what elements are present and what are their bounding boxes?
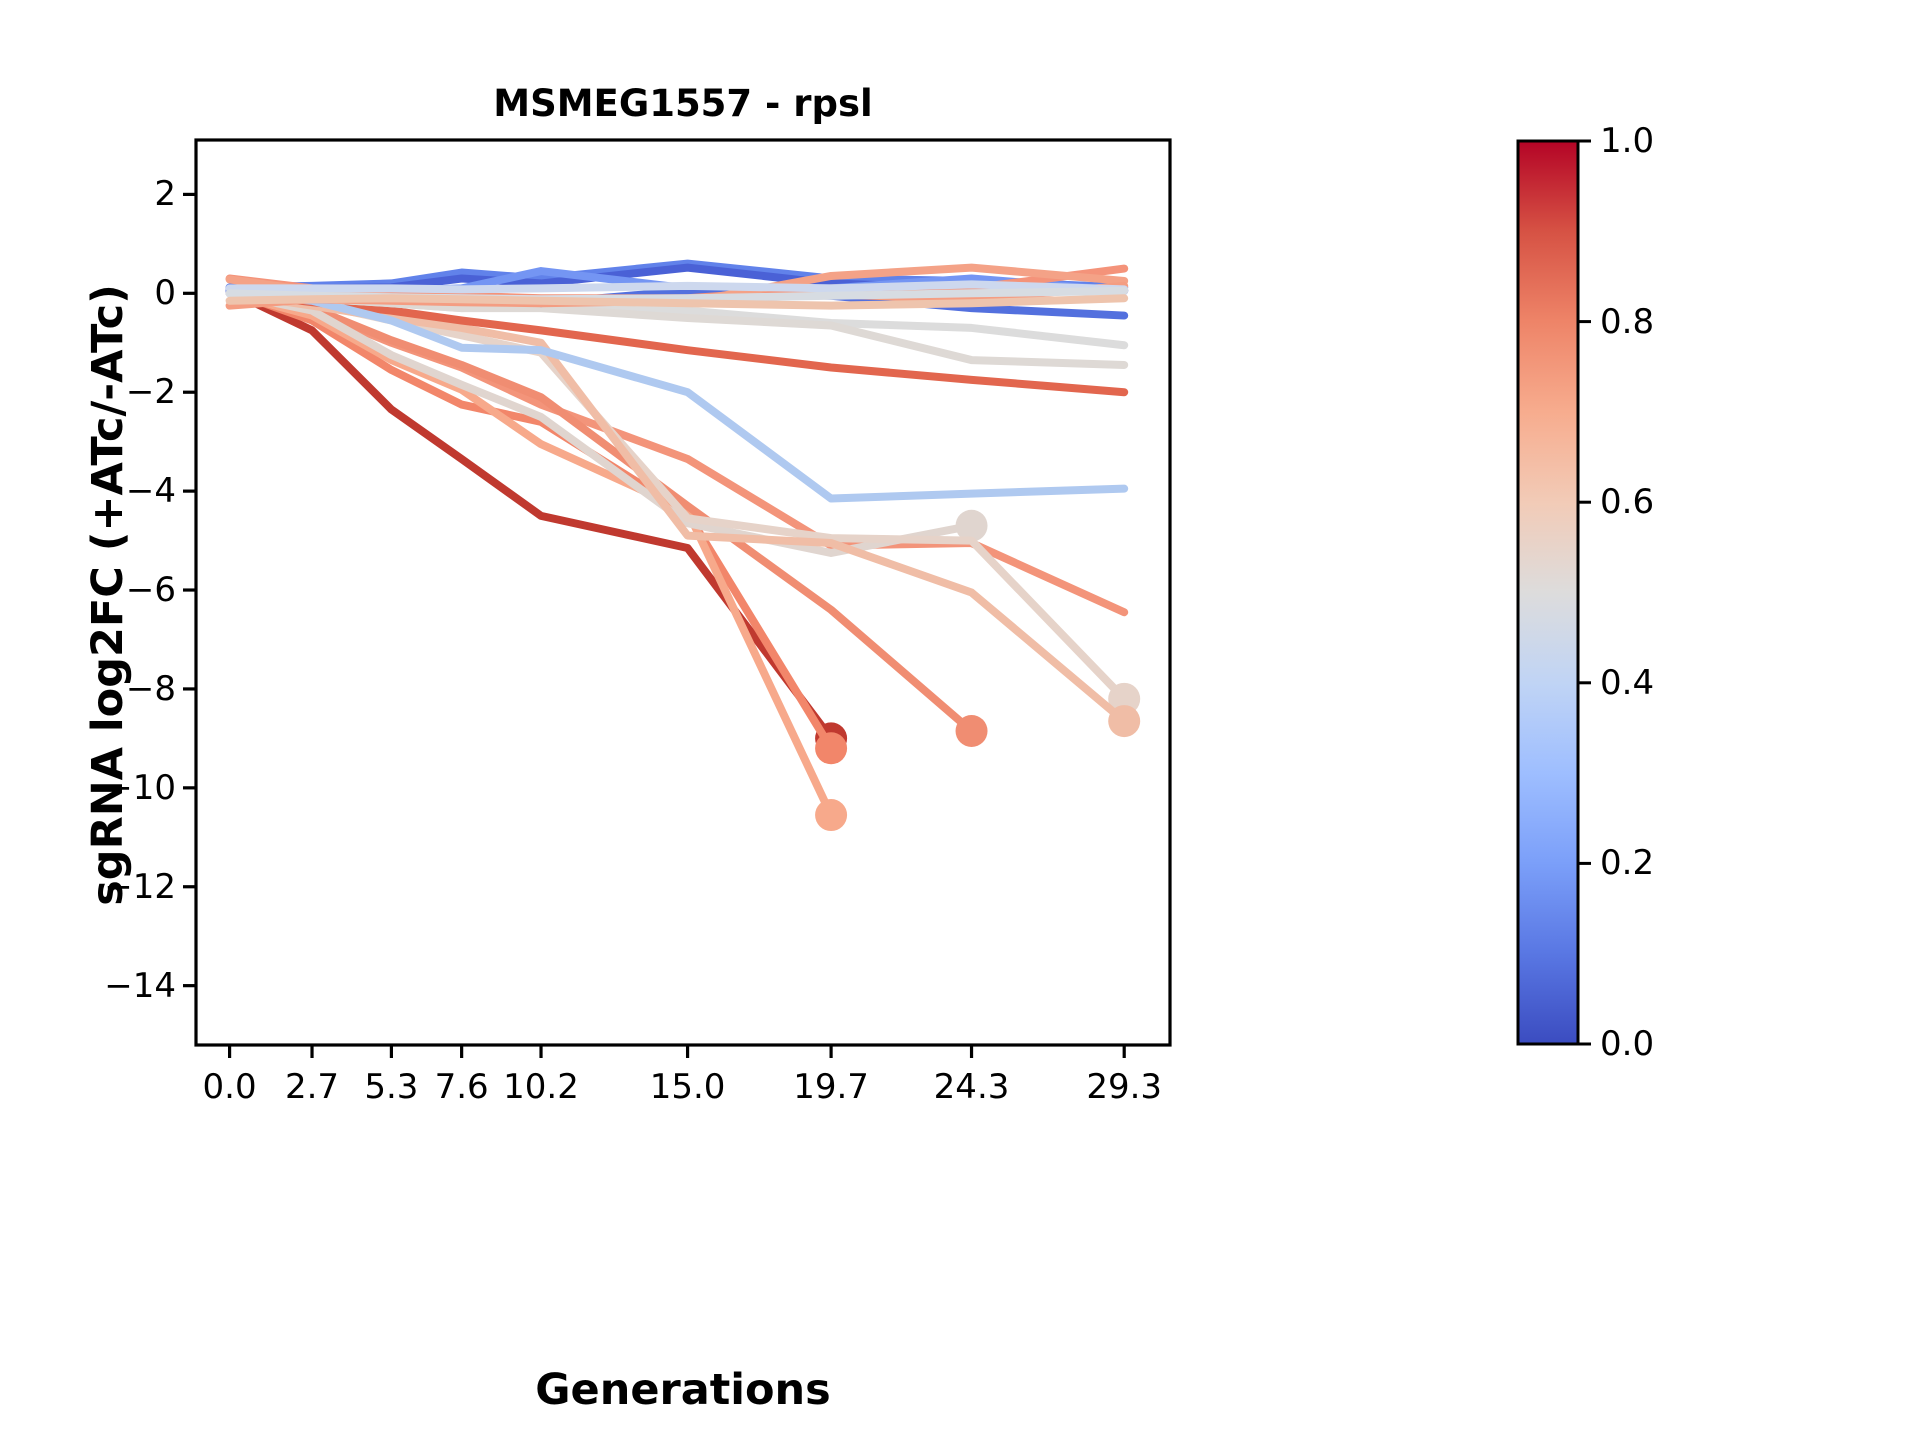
series-line xyxy=(230,284,1125,289)
x-tick-label: 15.0 xyxy=(650,1067,726,1107)
x-tick-label: 7.6 xyxy=(435,1067,489,1107)
colorbar-tick-label: 1.0 xyxy=(1600,121,1654,161)
colorbar-tick-label: 0.4 xyxy=(1600,663,1654,703)
y-tick-label: 2 xyxy=(20,174,176,214)
y-tick-label: −4 xyxy=(20,471,176,511)
y-tick-label: −8 xyxy=(20,669,176,709)
x-tick-label: 0.0 xyxy=(203,1067,257,1107)
y-tick-marks xyxy=(183,194,196,985)
y-tick-label: −12 xyxy=(20,867,176,907)
x-tick-label: 24.3 xyxy=(934,1067,1010,1107)
series-endpoint-marker xyxy=(1108,705,1140,737)
x-tick-marks xyxy=(230,1045,1125,1058)
x-tick-label: 29.3 xyxy=(1086,1067,1162,1107)
colorbar-tick-label: 0.8 xyxy=(1600,302,1654,342)
series-endpoint-marker xyxy=(815,799,847,831)
y-tick-label: −10 xyxy=(20,768,176,808)
y-tick-label: −14 xyxy=(20,966,176,1006)
figure-canvas: MSMEG1557 - rpsl sgRNA log2FC (+ATc/-ATc… xyxy=(0,0,1920,1440)
y-tick-label: 0 xyxy=(20,273,176,313)
colorbar-tick-marks xyxy=(1578,141,1591,1044)
colorbar-tick-label: 0.2 xyxy=(1600,843,1654,883)
x-tick-label: 19.7 xyxy=(793,1067,869,1107)
colorbar-tick-label: 0.6 xyxy=(1600,482,1654,522)
x-tick-label: 5.3 xyxy=(364,1067,418,1107)
x-tick-label: 2.7 xyxy=(285,1067,339,1107)
plot-svg xyxy=(0,0,1920,1440)
series-endpoint-marker xyxy=(956,715,988,747)
colorbar xyxy=(1518,141,1578,1044)
x-tick-label: 10.2 xyxy=(503,1067,579,1107)
y-tick-label: −6 xyxy=(20,570,176,610)
y-tick-label: −2 xyxy=(20,372,176,412)
series-endpoint-marker xyxy=(815,732,847,764)
colorbar-tick-label: 0.0 xyxy=(1600,1024,1654,1064)
